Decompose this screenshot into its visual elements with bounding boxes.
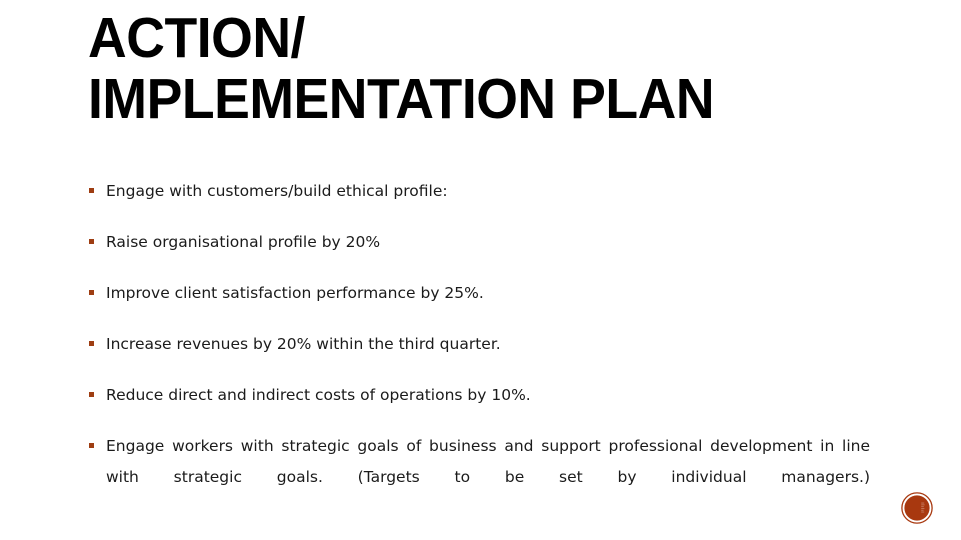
title-line-2: IMPLEMENTATION PLAN: [88, 71, 840, 128]
list-item: Improve client satisfaction performance …: [88, 278, 870, 309]
list-item: Increase revenues by 20% within the thir…: [88, 329, 870, 360]
list-item: Reduce direct and indirect costs of oper…: [88, 380, 870, 411]
list-item: Engage with customers/build ethical prof…: [88, 176, 870, 207]
list-item-label: Increase revenues by 20% within the thir…: [106, 329, 870, 360]
list-item: Raise organisational profile by 20%: [88, 227, 870, 258]
square-bullet-icon: [89, 341, 94, 346]
list-item-label: Raise organisational profile by 20%: [106, 227, 870, 258]
square-bullet-icon: [89, 290, 94, 295]
list-item-label: Reduce direct and indirect costs of oper…: [106, 380, 870, 411]
square-bullet-icon: [89, 188, 94, 193]
list-item-label: Engage with customers/build ethical prof…: [106, 176, 870, 207]
title-line-1: ACTION/: [88, 10, 840, 67]
slide-canvas: ACTION/ IMPLEMENTATION PLAN Engage with …: [0, 0, 961, 540]
list-item: Engage workers with strategic goals of b…: [88, 431, 870, 524]
circular-seal-emblem: [901, 492, 933, 524]
list-item-label: Improve client satisfaction performance …: [106, 278, 870, 309]
square-bullet-icon: [89, 239, 94, 244]
square-bullet-icon: [89, 392, 94, 397]
bullet-list: Engage with customers/build ethical prof…: [88, 176, 870, 540]
list-item-label: Engage workers with strategic goals of b…: [106, 431, 870, 524]
page-title: ACTION/ IMPLEMENTATION PLAN: [88, 4, 888, 128]
square-bullet-icon: [89, 443, 94, 448]
